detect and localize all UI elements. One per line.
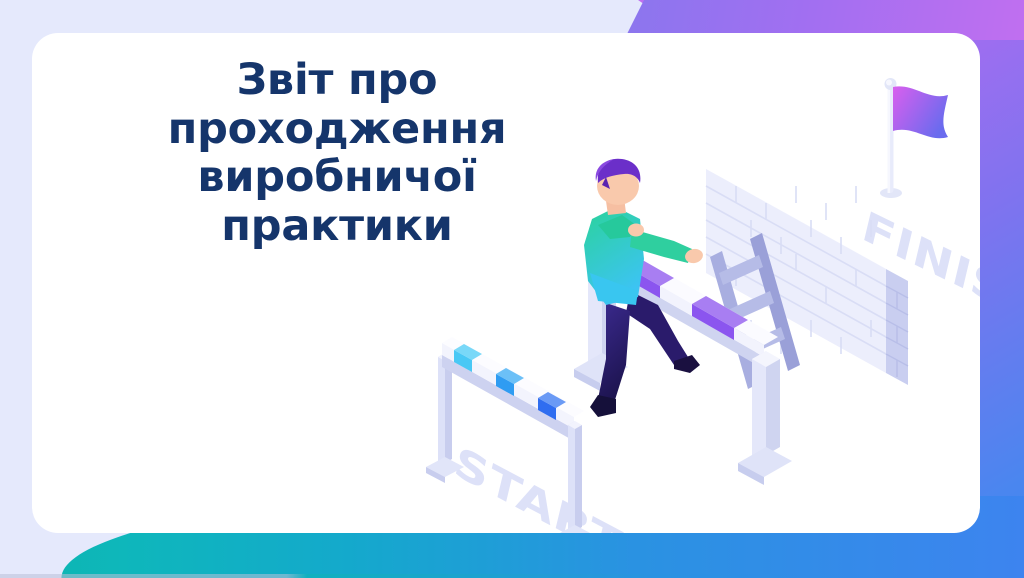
presentation-slide: Звіт про проходження виробничої практики bbox=[0, 0, 1024, 578]
obstacle-course-illustration: FINISH START bbox=[392, 73, 980, 533]
content-card: Звіт про проходження виробничої практики bbox=[32, 33, 980, 533]
svg-text:START: START bbox=[450, 437, 627, 533]
finish-flag-icon bbox=[880, 78, 948, 198]
bottom-hairline bbox=[0, 574, 1024, 578]
start-label-icon: START bbox=[450, 437, 627, 533]
